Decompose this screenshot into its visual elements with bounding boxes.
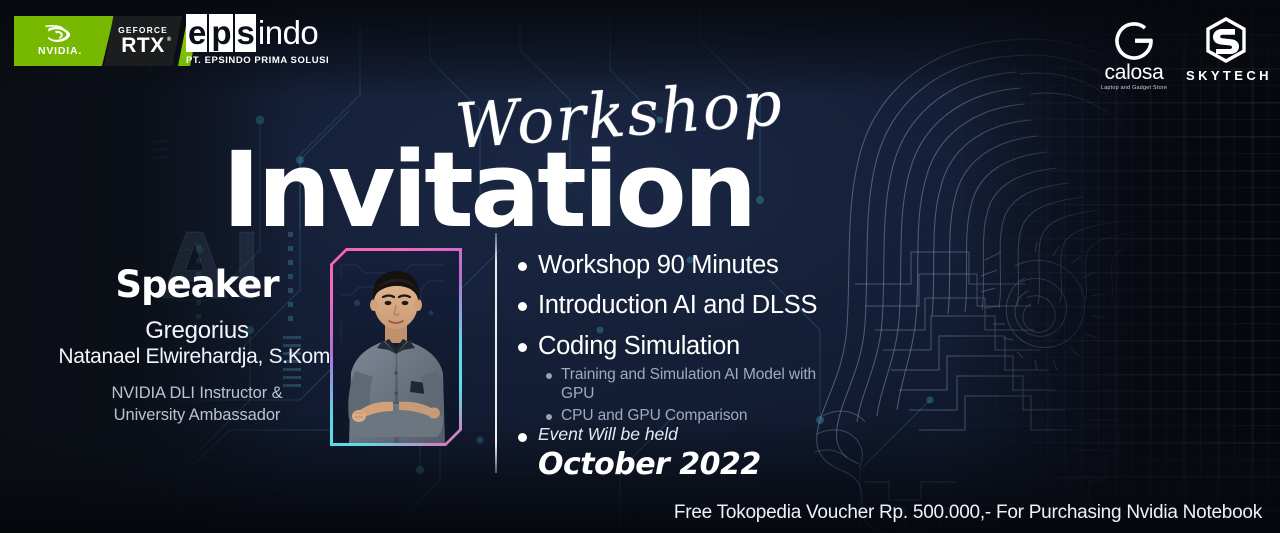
agenda-subitem-list: Training and Simulation AI Model with GP… [546,365,918,425]
calosa-wordmark: calosa [1098,63,1170,83]
speaker-photo-frame [330,248,462,446]
agenda-item-label: Workshop 90 Minutes [538,251,778,280]
agenda-item: Introduction AI and DLSS [518,291,918,320]
vertical-divider [495,233,497,473]
calosa-tagline: Laptop and Gadget Store [1098,85,1170,91]
event-date-label: October 2022 [538,447,918,482]
agenda-item-label: Coding Simulation [538,332,740,361]
agenda-item-row: Introduction AI and DLSS [518,291,918,320]
speaker-role-line1: NVIDIA DLI Instructor & [22,383,372,404]
agenda-item-row: Workshop 90 Minutes [518,251,918,280]
agenda-subitem-label: CPU and GPU Comparison [561,406,747,425]
skytech-wordmark: SKYTECH [1186,68,1266,83]
bullet-dot-icon [518,433,527,442]
speaker-heading: Speaker [22,266,372,305]
agenda-item-label: Introduction AI and DLSS [538,291,817,320]
speaker-section: Speaker Gregorius Natanael Elwirehardja,… [22,266,372,426]
speaker-name-first: Gregorius [22,318,372,344]
bullet-dot-icon [518,262,527,271]
epsindo-suffix: indo [258,14,318,52]
sub-bullet-dot-icon [546,414,552,420]
agenda-subitem: CPU and GPU Comparison [546,406,918,425]
epsindo-tagline: PT. EPSINDO PRIMA SOLUSI [186,55,326,66]
agenda-list: Workshop 90 Minutes Introduction AI and … [518,251,918,427]
poster-canvas: AI NVIDIA. GEFORCE RTX® e p s indo PT. E… [0,0,1280,533]
voucher-note: Free Tokopedia Voucher Rp. 500.000,- For… [674,502,1262,524]
agenda-item: Coding Simulation Training and Simulatio… [518,332,918,425]
event-date-section: Event Will be held October 2022 [518,424,918,482]
calosa-logo: calosa Laptop and Gadget Store [1098,16,1170,91]
agenda-subitem-label: Training and Simulation AI Model with GP… [561,365,837,404]
event-prefix-row: Event Will be held [518,424,918,445]
nvidia-eye-icon [45,25,75,44]
epsindo-letter-p: p [209,14,232,52]
nvidia-badge: NVIDIA. [14,16,114,66]
speaker-name-full: Natanael Elwirehardja, S.Kom. [22,344,372,370]
rtx-text: RTX [121,34,165,57]
speaker-portrait-illustration [333,251,459,443]
bullet-dot-icon [518,302,527,311]
epsindo-letter-e: e [186,14,207,52]
epsindo-letter-s: s [235,14,256,52]
event-prefix-label: Event Will be held [538,424,678,445]
invitation-title: Invitation [222,138,754,242]
nvidia-wordmark: NVIDIA. [38,45,82,57]
rtx-trademark: ® [167,37,172,43]
speaker-role-line2: University Ambassador [22,405,372,426]
speaker-photo [333,251,459,443]
geforce-rtx-badge: GEFORCE RTX® [104,16,182,66]
bullet-dot-icon [518,343,527,352]
agenda-item-row: Coding Simulation [518,332,918,361]
sub-bullet-dot-icon [546,373,552,379]
agenda-item: Workshop 90 Minutes [518,251,918,280]
epsindo-wordmark: e p s indo [186,14,326,54]
skytech-hex-s-icon [1202,16,1250,64]
nvidia-geforce-rtx-logo: NVIDIA. GEFORCE RTX® [14,16,200,66]
calosa-c-icon [1111,16,1157,62]
epsindo-logo: e p s indo PT. EPSINDO PRIMA SOLUSI [186,14,326,66]
agenda-subitem: Training and Simulation AI Model with GP… [546,365,918,404]
skytech-logo: SKYTECH [1186,16,1266,83]
rtx-label: RTX® [121,35,165,56]
